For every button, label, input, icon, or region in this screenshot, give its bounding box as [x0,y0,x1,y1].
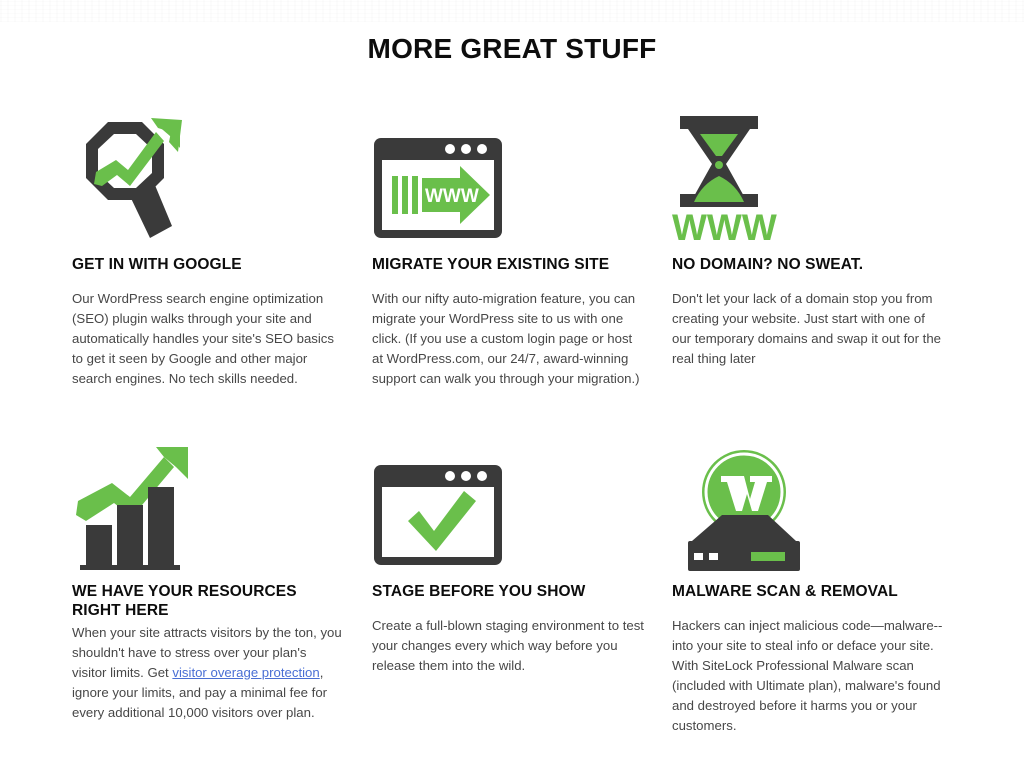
feature-card-stage-before-you-show: STAGE BEFORE YOU SHOW Create a full-blow… [372,389,672,736]
icon-wrap: WWW [372,104,644,244]
card-title: MALWARE SCAN & REMOVAL [672,583,944,602]
feature-grid: GET IN WITH GOOGLE Our WordPress search … [0,104,1024,737]
wordpress-server-icon [672,449,812,571]
page-title: MORE GREAT STUFF [0,0,1024,65]
hourglass-www-label: WWW [672,207,777,244]
icon-wrap [372,431,644,571]
card-body: With our nifty auto-migration feature, y… [372,289,644,389]
icon-wrap: WWW [672,104,944,244]
card-title: WE HAVE YOUR RESOURCES RIGHT HERE [72,583,344,621]
hourglass-www-icon: WWW [672,112,784,244]
feature-card-migrate-your-existing-site: WWW MIGRATE YOUR EXISTING SITE With our … [372,104,672,389]
card-body: Hackers can inject malicious code—malwar… [672,616,944,736]
card-title: MIGRATE YOUR EXISTING SITE [372,256,644,275]
card-body: When your site attracts visitors by the … [72,623,344,723]
browser-www-arrow-icon: WWW [372,136,504,244]
feature-card-get-in-with-google: GET IN WITH GOOGLE Our WordPress search … [72,104,372,389]
card-title: GET IN WITH GOOGLE [72,256,344,275]
icon-wrap [72,104,344,244]
icon-wrap [72,431,344,571]
icon-wrap [672,431,944,571]
feature-card-malware-scan-removal: MALWARE SCAN & REMOVAL Hackers can injec… [672,389,972,736]
visitor-overage-protection-link[interactable]: visitor overage protection [172,665,319,680]
card-body: Create a full-blown staging environment … [372,616,644,676]
browser-checkmark-icon [372,463,504,571]
card-title: NO DOMAIN? NO SWEAT. [672,256,944,275]
svg-text:WWW: WWW [425,186,479,207]
card-title: STAGE BEFORE YOU SHOW [372,583,644,602]
feature-card-no-domain-no-sweat: WWW NO DOMAIN? NO SWEAT. Don't let your … [672,104,972,389]
card-body: Don't let your lack of a domain stop you… [672,289,944,369]
bar-chart-growth-arrow-icon [72,445,192,571]
magnifying-glass-growth-arrow-icon [72,114,197,244]
page-root: MORE GREAT STUFF GET IN WITH GOOGLE Our … [0,0,1024,773]
feature-card-we-have-your-resources-right-here: WE HAVE YOUR RESOURCES RIGHT HERE When y… [72,389,372,736]
card-body: Our WordPress search engine optimization… [72,289,344,389]
